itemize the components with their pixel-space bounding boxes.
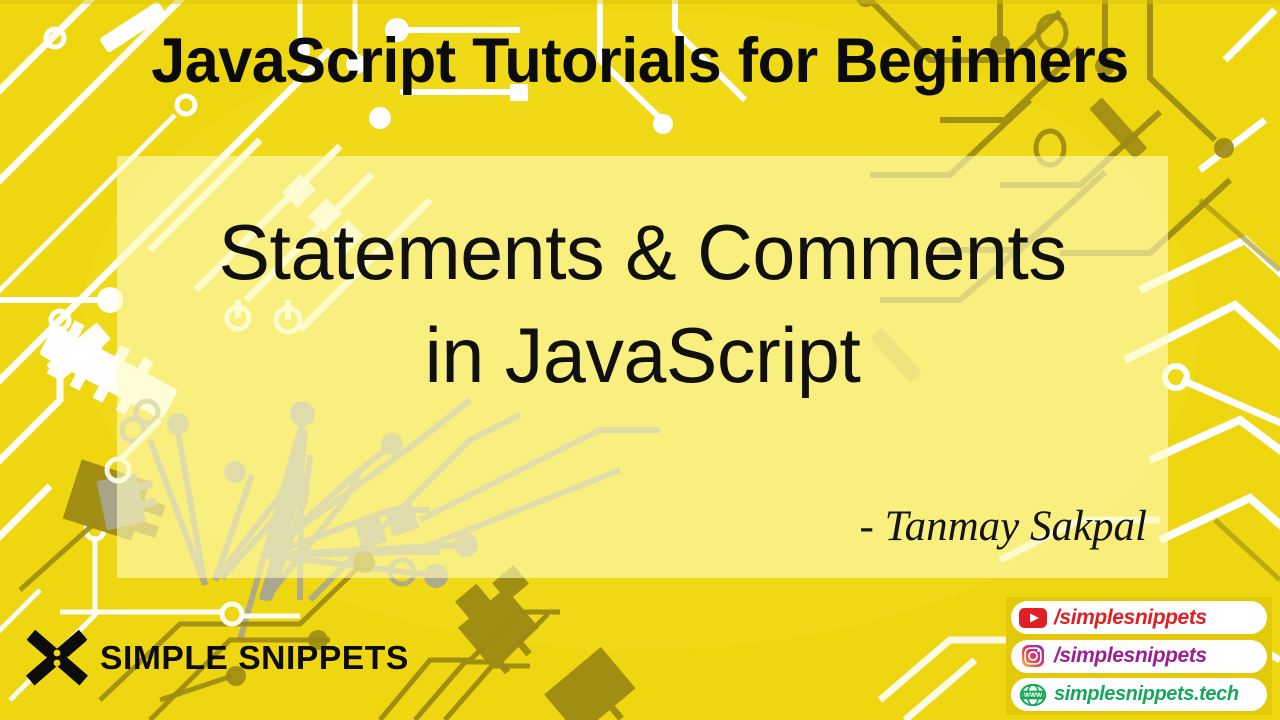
badge-instagram[interactable]: /simplesnippets xyxy=(1011,640,1267,673)
video-thumbnail-slide: JavaScript Tutorials for Beginners State… xyxy=(0,0,1280,720)
brand-logo: SIMPLE SNIPPETS xyxy=(24,627,403,689)
badge-instagram-label: /simplesnippets xyxy=(1054,644,1207,668)
youtube-icon xyxy=(1019,607,1047,629)
badge-website-label: simplesnippets.tech xyxy=(1054,683,1239,706)
scissors-x-icon xyxy=(24,629,90,687)
badge-youtube-label: /simplesnippets xyxy=(1054,606,1207,630)
page-title: JavaScript Tutorials for Beginners xyxy=(19,30,1261,93)
topic-line-primary: Statements & Comments xyxy=(122,212,1162,293)
brand-name: SIMPLE SNIPPETS xyxy=(100,639,409,677)
badge-website[interactable]: WWW simplesnippets.tech xyxy=(1011,678,1267,711)
svg-text:WWW: WWW xyxy=(1024,692,1043,699)
instagram-icon xyxy=(1019,645,1047,667)
topic-line-secondary: in JavaScript xyxy=(122,315,1162,396)
badge-youtube[interactable]: /simplesnippets xyxy=(1011,601,1267,634)
social-badges-panel: /simplesnippets /simplesnippets xyxy=(1006,597,1272,715)
author-credit: - Tanmay Sakpal xyxy=(117,502,1147,551)
globe-www-icon: WWW xyxy=(1019,684,1047,706)
topic-heading: Statements & Comments in JavaScript xyxy=(117,212,1168,396)
